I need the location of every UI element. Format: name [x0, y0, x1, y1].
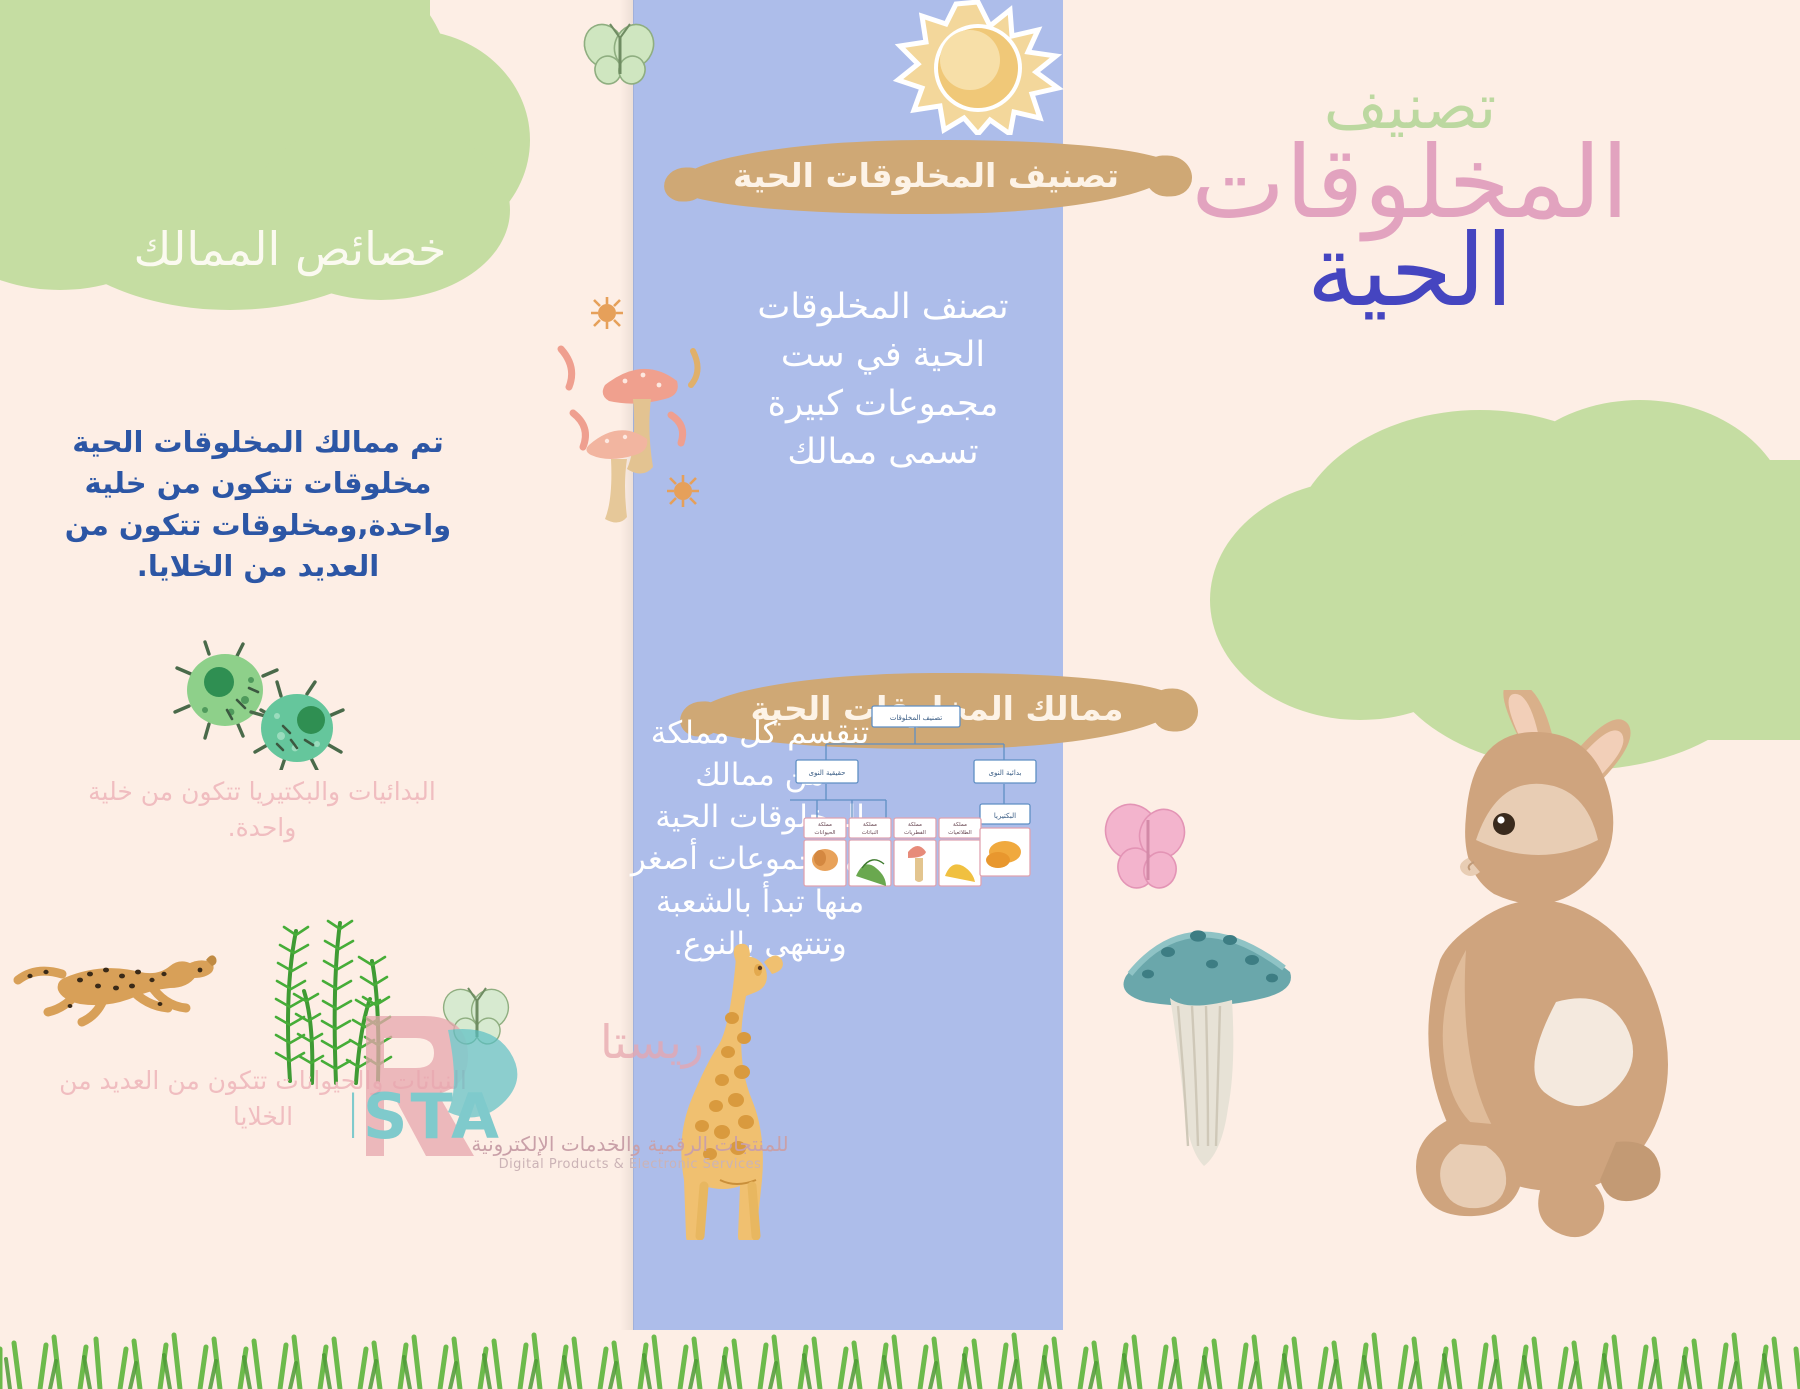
- svg-text:مملكة: مملكة: [908, 821, 922, 828]
- svg-text:مملكة: مملكة: [818, 821, 832, 828]
- bacteria-illustration: [165, 640, 355, 770]
- svg-text:تصنيف المخلوقات: تصنيف المخلوقات: [890, 714, 942, 722]
- mushroom-illustration: [545, 295, 725, 535]
- svg-text:البكتيريا: البكتيريا: [994, 812, 1016, 820]
- watermark-tagline-en: Digital Products & Electronic Services: [330, 1157, 930, 1173]
- svg-text:حقيقية النوى: حقيقية النوى: [809, 769, 846, 777]
- center-paragraph-1: تصنف المخلوقات الحية في ست مجموعات كبيرة…: [733, 283, 1033, 476]
- page-title: تصنيف المخلوقات الحية: [1060, 75, 1760, 322]
- grass-strip: [0, 1319, 1800, 1389]
- center-column-shadow: [620, 0, 634, 1330]
- sun-icon: [890, 0, 1065, 135]
- green-cloud-shape: [0, 0, 560, 380]
- giraffe-illustration: [640, 940, 830, 1240]
- svg-text:مملكة: مملكة: [953, 821, 967, 828]
- rabbit-illustration: [1290, 690, 1710, 1250]
- plant-illustration: [250, 905, 440, 1085]
- left-caption-2: النباتات والحيوانات تتكون من العديد من ا…: [48, 1063, 478, 1136]
- left-section-heading: خصائص الممالك: [60, 222, 520, 276]
- svg-text:الحيوانات: الحيوانات: [814, 830, 836, 836]
- mushroom-illustration: [1100, 880, 1320, 1170]
- watermark-tagline-ar: للمنتجات الرقمية والخدمات الإلكترونية: [330, 1132, 930, 1157]
- butterfly-icon: [440, 985, 514, 1051]
- watermark-tagline: للمنتجات الرقمية والخدمات الإلكترونية Di…: [330, 1132, 930, 1173]
- cheetah-illustration: [10, 930, 220, 1050]
- svg-text:الفطريات: الفطريات: [904, 830, 926, 836]
- classification-diagram: تصنيف المخلوقات حقيقية النوى بدائية النو…: [790, 700, 1040, 935]
- svg-text:النباتات: النباتات: [862, 830, 879, 836]
- svg-text:مملكة: مملكة: [863, 821, 877, 828]
- left-caption-1: البدائيات والبكتيريا تتكون من خلية واحدة…: [52, 774, 472, 847]
- poster-canvas: تصنيف المخلوقات الحية تصنف المخلوقات الح…: [0, 0, 1800, 1389]
- title-line-3: الحية: [1060, 220, 1760, 322]
- left-bold-paragraph: تم ممالك المخلوقات الحية مخلوقات تتكون م…: [62, 422, 454, 588]
- butterfly-icon: [580, 20, 660, 90]
- svg-text:بدائية النوى: بدائية النوى: [989, 769, 1022, 777]
- svg-text:الطلائعيات: الطلائعيات: [948, 830, 972, 836]
